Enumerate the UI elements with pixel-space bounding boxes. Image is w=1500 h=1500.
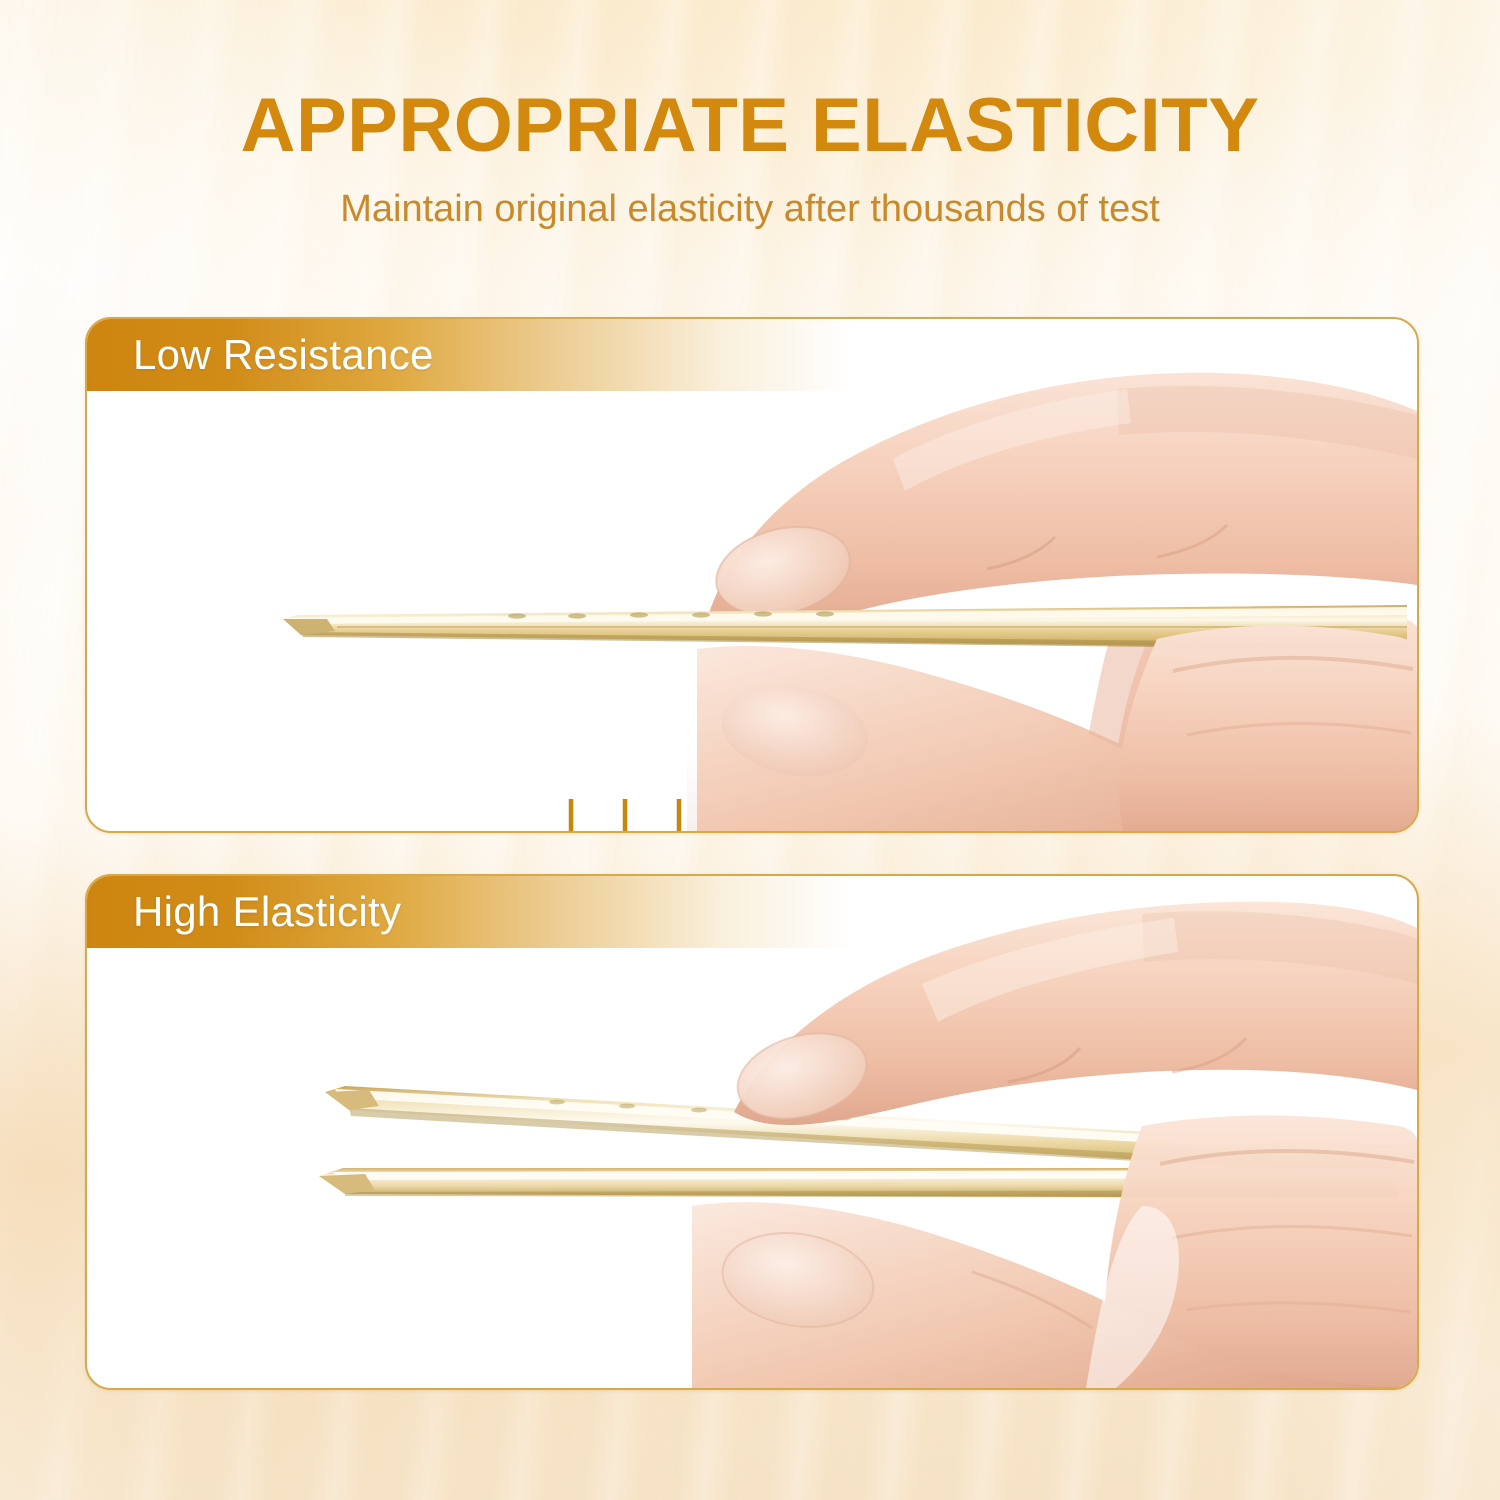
panel-low-resistance-body: Low Resistance — [87, 319, 1417, 831]
panel-high-elasticity: 8mm rebound easily — [85, 874, 1419, 1390]
arrow-down-icon — [665, 799, 693, 831]
infographic-canvas: APPROPRIATE ELASTICITY Maintain original… — [0, 0, 1500, 1500]
badge-high-elasticity: High Elasticity — [87, 876, 885, 948]
panel-low-resistance: Low Resistance — [85, 317, 1419, 833]
badge-label: High Elasticity — [133, 888, 401, 936]
arrow-down-icon — [611, 799, 639, 831]
badge-label: Low Resistance — [133, 331, 434, 379]
hand-foreground-thumb-closed — [687, 319, 1417, 831]
panel-high-elasticity-body: 8mm rebound easily — [87, 876, 1417, 1388]
header-block: APPROPRIATE ELASTICITY Maintain original… — [0, 88, 1500, 228]
badge-low-resistance: Low Resistance — [87, 319, 885, 391]
arrows-force-down-group — [557, 799, 693, 831]
arrow-down-icon — [557, 799, 585, 831]
hand-photo-open-grip — [672, 876, 1417, 1388]
page-title: APPROPRIATE ELASTICITY — [0, 88, 1500, 164]
page-subtitle: Maintain original elasticity after thous… — [0, 190, 1500, 228]
